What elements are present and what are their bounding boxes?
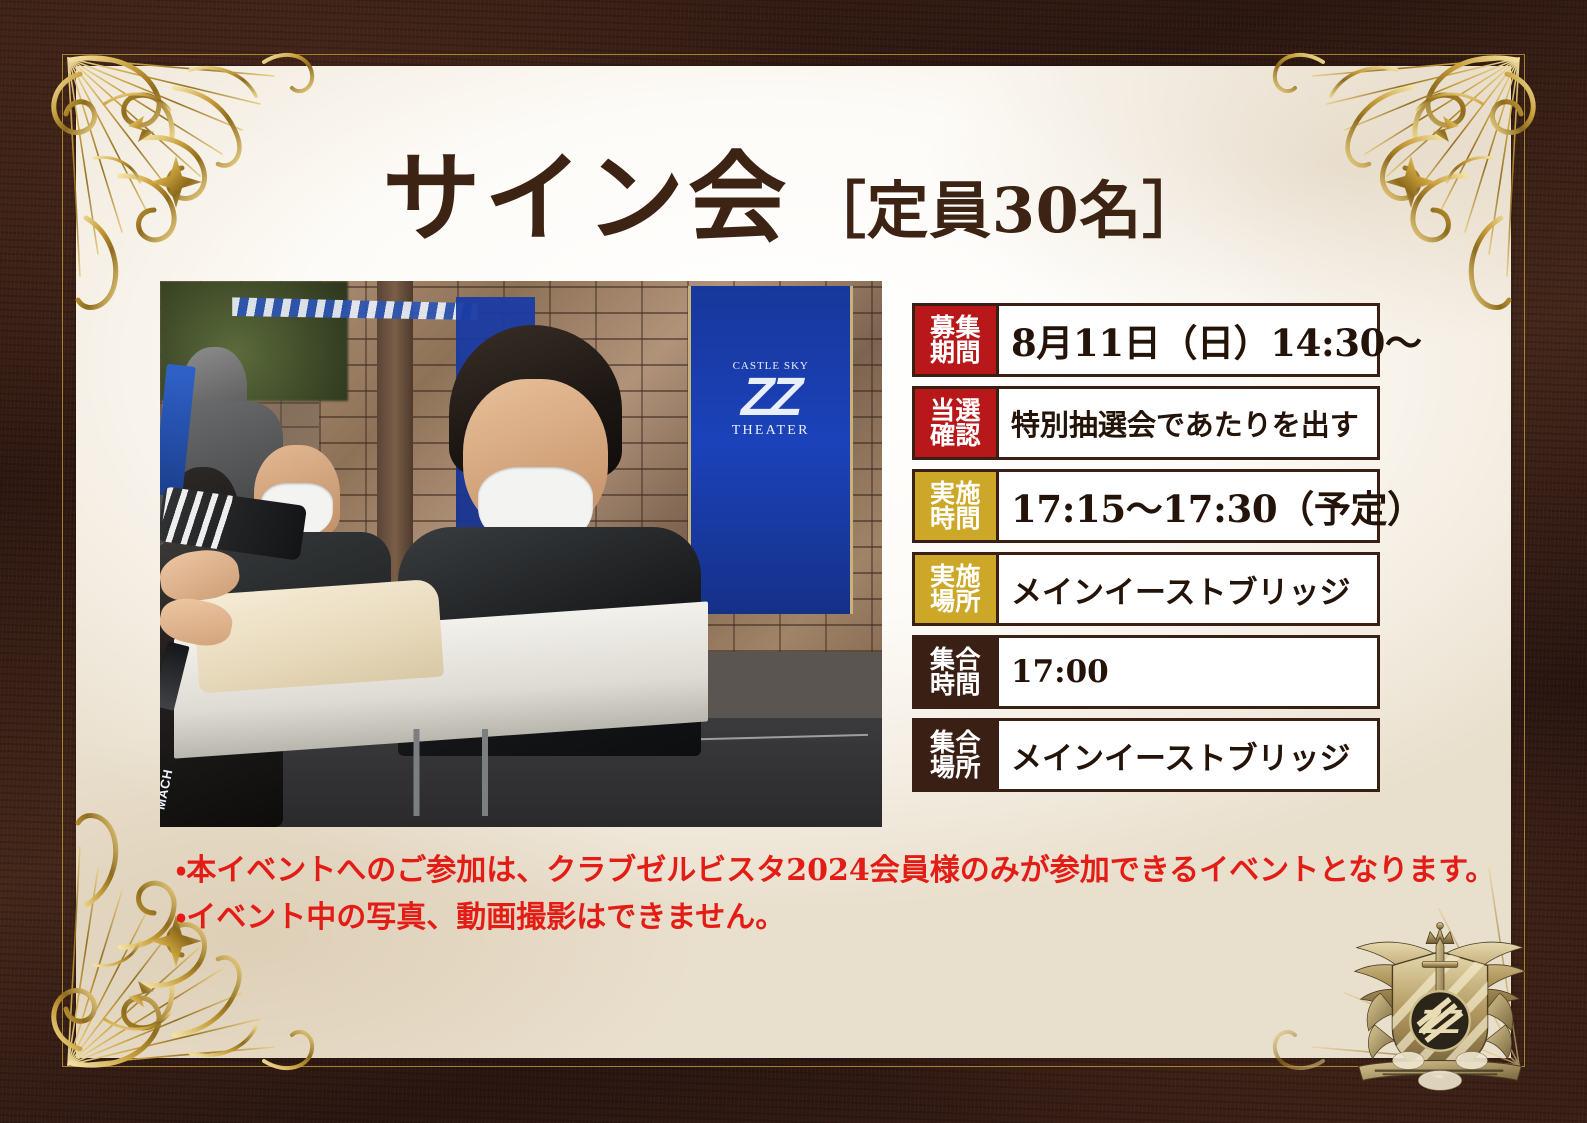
photo-sleeve-stripes (160, 487, 233, 550)
photo-table-legs (377, 729, 579, 816)
label-line-1: 募集 (930, 315, 981, 341)
row-label-event-time: 実施 時間 (915, 472, 999, 540)
note-membership-requirement: ・本イベントへのご参加は、クラブゼルビスタ2024会員様のみが参加できるイベント… (176, 850, 1416, 891)
table-row: 実施 場所 メインイーストブリッジ (912, 552, 1380, 626)
row-label-meeting-time: 集合 時間 (915, 638, 999, 706)
label-line-2: 確認 (930, 423, 981, 449)
photo-blue-banner: CASTLE SKY ZZ THEATER (688, 286, 853, 614)
table-row: 募集 期間 8月11日（日）14:30〜 (912, 303, 1380, 377)
label-line-1: 集合 (930, 730, 981, 756)
row-label-meeting-place: 集合 場所 (915, 721, 999, 789)
row-value-application-period: 8月11日（日）14:30〜 (999, 306, 1422, 374)
table-row: 集合 時間 17:00 (912, 635, 1380, 709)
row-value-event-place: メインイーストブリッジ (999, 555, 1377, 623)
label-line-2: 期間 (930, 340, 981, 366)
label-line-1: 実施 (930, 481, 981, 507)
photo-signed-towel (193, 578, 445, 693)
event-photo: CASTLE SKY ZZ THEATER MACH (160, 281, 882, 827)
table-row: 実施 時間 17:15〜17:30（予定） (912, 469, 1380, 543)
label-line-1: 実施 (930, 564, 981, 590)
event-info-table: 募集 期間 8月11日（日）14:30〜 当選 確認 特別抽選会であたりを出す … (912, 303, 1380, 801)
label-line-2: 場所 (930, 589, 981, 615)
label-line-2: 時間 (930, 506, 981, 532)
note-no-photography: ・イベント中の写真、動画撮影はできません。 (176, 897, 1416, 938)
crest-zz-text: ZZ (1416, 1003, 1465, 1041)
label-line-2: 時間 (930, 672, 981, 698)
poster-root: サイン会［定員30名］ CASTLE SKY ZZ THEATER (0, 0, 1587, 1123)
club-crest-emblem-icon: ZZ (1331, 921, 1549, 1101)
row-value-winner-confirmation: 特別抽選会であたりを出す (999, 389, 1377, 457)
label-line-1: 当選 (930, 398, 981, 424)
row-value-event-time: 17:15〜17:30（予定） (999, 472, 1424, 540)
photo-banner-zz-logo: ZZ (686, 372, 856, 423)
table-row: 集合 場所 メインイーストブリッジ (912, 718, 1380, 792)
row-value-meeting-time: 17:00 (999, 638, 1377, 706)
label-line-2: 場所 (930, 755, 981, 781)
notes-section: ・本イベントへのご参加は、クラブゼルビスタ2024会員様のみが参加できるイベント… (176, 850, 1416, 939)
title-main-text: サイン会 (382, 141, 790, 256)
row-label-application-period: 募集 期間 (915, 306, 999, 374)
row-value-meeting-place: メインイーストブリッジ (999, 721, 1377, 789)
row-label-event-place: 実施 場所 (915, 555, 999, 623)
title-capacity-text: ［定員30名］ (804, 174, 1205, 247)
page-title: サイン会［定員30名］ (0, 150, 1587, 248)
label-line-1: 集合 (930, 647, 981, 673)
row-label-winner-confirmation: 当選 確認 (915, 389, 999, 457)
table-row: 当選 確認 特別抽選会であたりを出す (912, 386, 1380, 460)
